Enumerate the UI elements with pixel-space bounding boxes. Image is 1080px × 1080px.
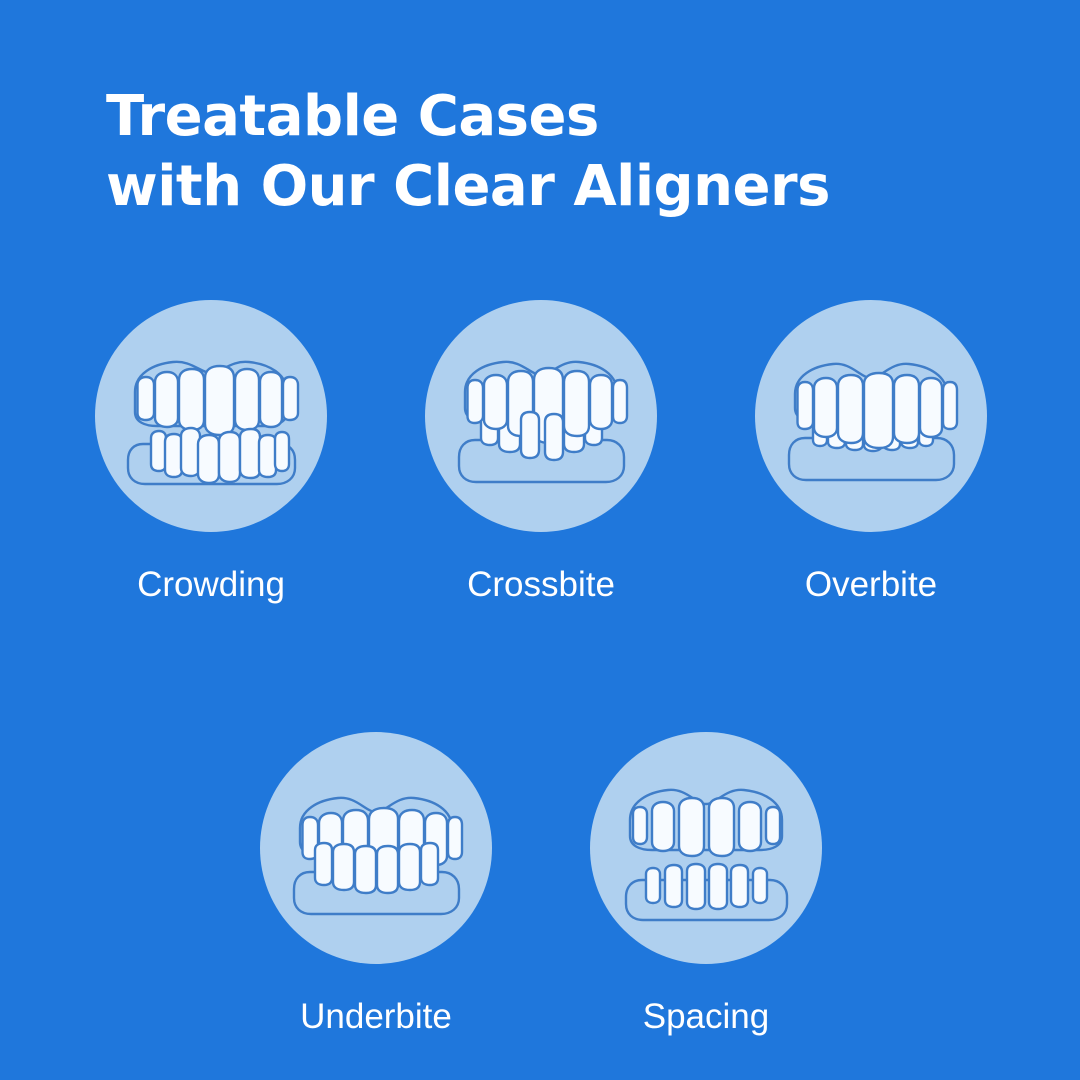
case-icon-circle-spacing [590,732,822,964]
case-label-underbite: Underbite [300,997,452,1037]
cases-row-bottom: Underbite [0,732,1080,1037]
page-title: Treatable Cases with Our Clear Aligners [106,82,986,222]
teeth-crossbite-icon [425,300,657,532]
infographic-root: Treatable Cases with Our Clear Aligners [0,0,1080,1080]
teeth-spacing-icon [590,732,822,964]
case-label-spacing: Spacing [643,997,769,1037]
case-label-crowding: Crowding [137,565,285,605]
case-item-underbite[interactable]: Underbite [260,732,492,1037]
teeth-underbite-icon [260,732,492,964]
case-icon-circle-crowding [95,300,327,532]
teeth-overbite-icon [755,300,987,532]
treatable-cases-grid: Crowding [0,300,1080,1037]
case-icon-circle-crossbite [425,300,657,532]
case-icon-circle-overbite [755,300,987,532]
cases-row-top: Crowding [0,300,1080,605]
case-item-crowding[interactable]: Crowding [95,300,327,605]
case-label-overbite: Overbite [805,565,937,605]
case-item-crossbite[interactable]: Crossbite [425,300,657,605]
case-item-spacing[interactable]: Spacing [590,732,822,1037]
page-title-line-2: with Our Clear Aligners [106,152,986,222]
case-label-crossbite: Crossbite [467,565,615,605]
teeth-crowding-icon [95,300,327,532]
case-icon-circle-underbite [260,732,492,964]
page-title-line-1: Treatable Cases [106,82,986,152]
case-item-overbite[interactable]: Overbite [755,300,987,605]
